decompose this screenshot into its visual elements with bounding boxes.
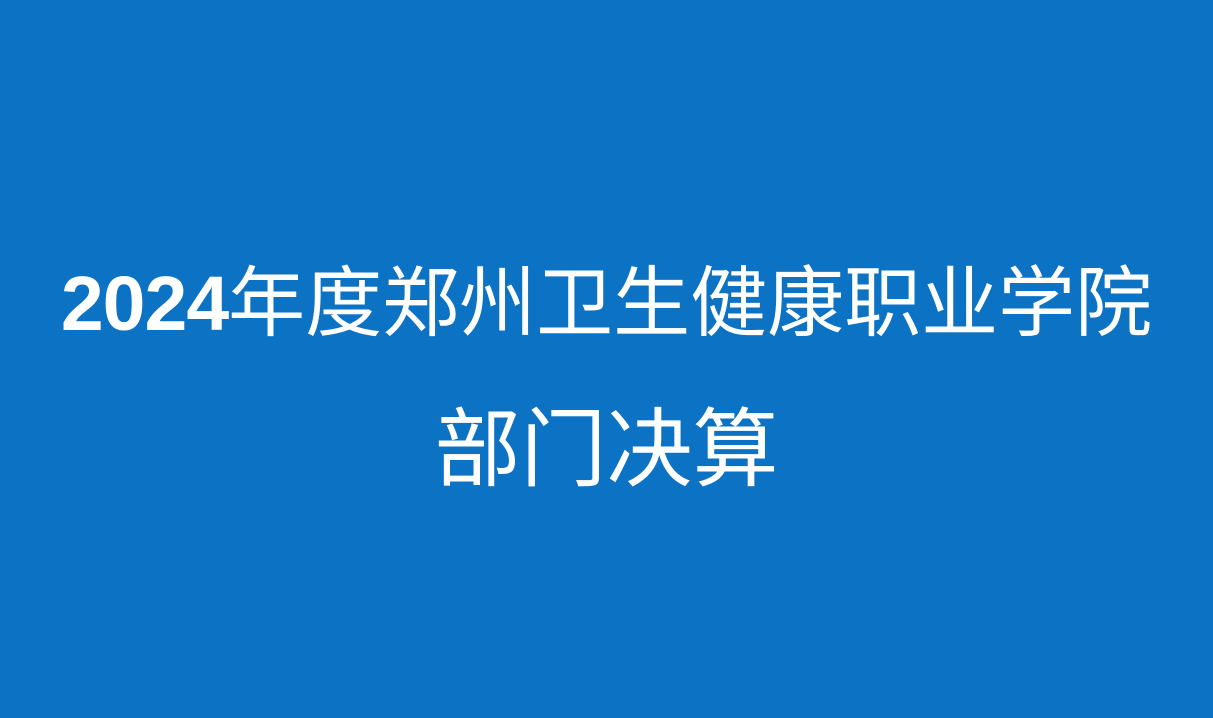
cover-title-organization: 年度郑州卫生健康职业学院 [228,261,1152,347]
cover-title-line-1: 2024年度郑州卫生健康职业学院 [0,252,1213,356]
cover-title-fiscal-year: 2024 [61,261,228,347]
cover-title-block: 2024年度郑州卫生健康职业学院 部门决算 [0,252,1213,502]
document-cover-page: 2024年度郑州卫生健康职业学院 部门决算 [0,0,1213,718]
cover-title-line-2: 部门决算 [0,398,1213,502]
